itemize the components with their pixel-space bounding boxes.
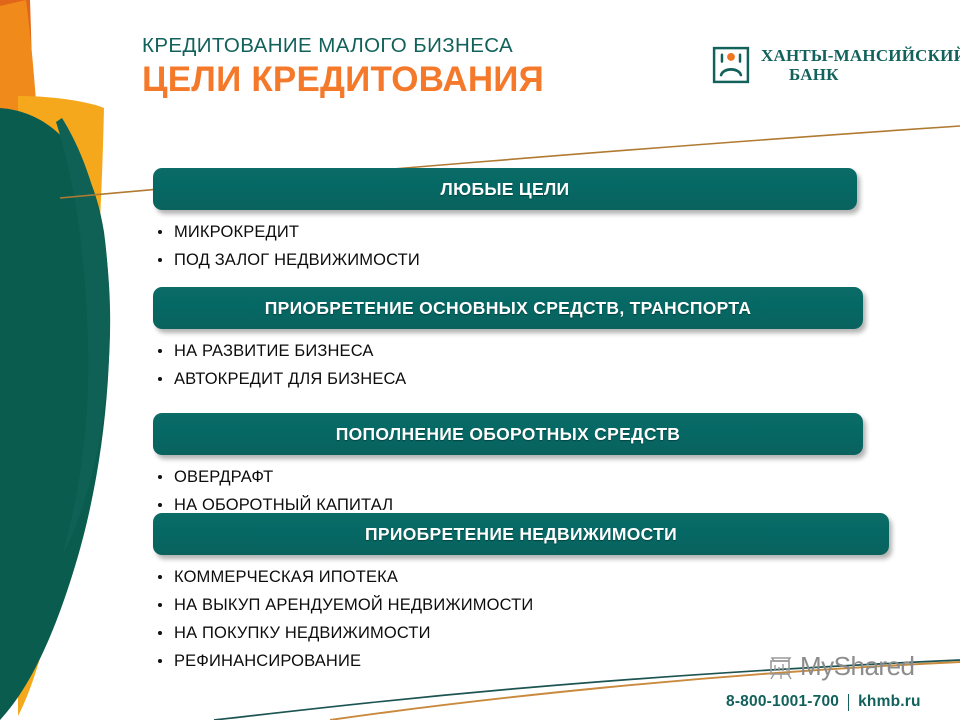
list-item-label: ОВЕРДРАФТ xyxy=(174,468,273,486)
list-item: КОММЕРЧЕСКАЯ ИПОТЕКА xyxy=(153,563,889,591)
bullet-marker-icon xyxy=(158,349,162,353)
bullet-marker-icon xyxy=(158,258,162,262)
list-item: АВТОКРЕДИТ ДЛЯ БИЗНЕСА xyxy=(153,365,863,393)
list-item: НА ПОКУПКУ НЕДВИЖИМОСТИ xyxy=(153,619,889,647)
myshared-watermark-text: MyShared xyxy=(800,651,915,682)
list-item: ПОД ЗАЛОГ НЕДВИЖИМОСТИ xyxy=(153,246,857,274)
bullet-marker-icon xyxy=(158,475,162,479)
slide-header: КРЕДИТОВАНИЕ МАЛОГО БИЗНЕСА ЦЕЛИ КРЕДИТО… xyxy=(142,34,702,100)
footer-contact: 8-800-1001-700 khmb.ru xyxy=(726,693,921,711)
content-block: ПРИОБРЕТЕНИЕ ОСНОВНЫХ СРЕДСТВ, ТРАНСПОРТ… xyxy=(153,287,863,393)
list-item: ОВЕРДРАФТ xyxy=(153,463,863,491)
list-item-label: ПОД ЗАЛОГ НЕДВИЖИМОСТИ xyxy=(174,251,420,269)
list-item-label: РЕФИНАНСИРОВАНИЕ xyxy=(174,652,361,670)
list-item-label: НА РАЗВИТИЕ БИЗНЕСА xyxy=(174,342,374,360)
content-block: ПОПОЛНЕНИЕ ОБОРОТНЫХ СРЕДСТВОВЕРДРАФТНА … xyxy=(153,413,863,519)
bullet-marker-icon xyxy=(158,659,162,663)
footer-divider xyxy=(848,694,849,711)
block-heading-label: ПОПОЛНЕНИЕ ОБОРОТНЫХ СРЕДСТВ xyxy=(336,424,681,445)
block-heading-pill[interactable]: ПОПОЛНЕНИЕ ОБОРОТНЫХ СРЕДСТВ xyxy=(153,413,863,455)
list-item-label: МИКРОКРЕДИТ xyxy=(174,223,299,241)
deco-teal-leaf xyxy=(0,108,110,720)
list-item-label: КОММЕРЧЕСКАЯ ИПОТЕКА xyxy=(174,568,398,586)
list-item-label: НА ВЫКУП АРЕНДУЕМОЙ НЕДВИЖИМОСТИ xyxy=(174,596,533,614)
slide-kicker: КРЕДИТОВАНИЕ МАЛОГО БИЗНЕСА xyxy=(142,34,702,58)
bank-name-line2: БАНК xyxy=(761,65,960,84)
deco-orange-dark-band xyxy=(0,0,34,720)
list-item: НА ВЫКУП АРЕНДУЕМОЙ НЕДВИЖИМОСТИ xyxy=(153,591,889,619)
list-item-label: НА ОБОРОТНЫЙ КАПИТАЛ xyxy=(174,496,393,514)
block-bullet-list: НА РАЗВИТИЕ БИЗНЕСААВТОКРЕДИТ ДЛЯ БИЗНЕС… xyxy=(153,337,863,393)
bank-logo-text: ХАНТЫ-МАНСИЙСКИЙ БАНК xyxy=(761,46,960,84)
list-item-label: НА ПОКУПКУ НЕДВИЖИМОСТИ xyxy=(174,624,431,642)
khmb-emblem-icon xyxy=(712,46,750,84)
bank-logo: ХАНТЫ-МАНСИЙСКИЙ БАНК xyxy=(712,46,960,84)
list-item-label: АВТОКРЕДИТ ДЛЯ БИЗНЕСА xyxy=(174,370,406,388)
block-heading-pill[interactable]: ЛЮБЫЕ ЦЕЛИ xyxy=(153,168,857,210)
content-block: ЛЮБЫЕ ЦЕЛИМИКРОКРЕДИТПОД ЗАЛОГ НЕДВИЖИМО… xyxy=(153,168,857,274)
block-heading-label: ЛЮБЫЕ ЦЕЛИ xyxy=(441,179,570,200)
bullet-marker-icon xyxy=(158,603,162,607)
bank-name-line1: ХАНТЫ-МАНСИЙСКИЙ xyxy=(761,46,960,65)
deco-orange-band xyxy=(0,0,43,720)
footer-website[interactable]: khmb.ru xyxy=(858,693,921,711)
deco-teal-arc xyxy=(56,118,110,556)
bullet-marker-icon xyxy=(158,230,162,234)
block-heading-pill[interactable]: ПРИОБРЕТЕНИЕ НЕДВИЖИМОСТИ xyxy=(153,513,889,555)
bullet-marker-icon xyxy=(158,631,162,635)
block-heading-label: ПРИОБРЕТЕНИЕ НЕДВИЖИМОСТИ xyxy=(365,524,677,545)
block-heading-pill[interactable]: ПРИОБРЕТЕНИЕ ОСНОВНЫХ СРЕДСТВ, ТРАНСПОРТ… xyxy=(153,287,863,329)
deco-amber-band xyxy=(18,96,104,716)
bullet-marker-icon xyxy=(158,575,162,579)
list-item: НА РАЗВИТИЕ БИЗНЕСА xyxy=(153,337,863,365)
slide-title: ЦЕЛИ КРЕДИТОВАНИЯ xyxy=(142,60,702,100)
myshared-logo-icon xyxy=(766,652,796,682)
list-item: МИКРОКРЕДИТ xyxy=(153,218,857,246)
myshared-watermark: MyShared xyxy=(766,651,915,682)
footer-phone[interactable]: 8-800-1001-700 xyxy=(726,693,839,711)
block-bullet-list: МИКРОКРЕДИТПОД ЗАЛОГ НЕДВИЖИМОСТИ xyxy=(153,218,857,274)
slide-canvas: КРЕДИТОВАНИЕ МАЛОГО БИЗНЕСА ЦЕЛИ КРЕДИТО… xyxy=(0,0,960,720)
bullet-marker-icon xyxy=(158,503,162,507)
block-heading-label: ПРИОБРЕТЕНИЕ ОСНОВНЫХ СРЕДСТВ, ТРАНСПОРТ… xyxy=(265,298,752,319)
bullet-marker-icon xyxy=(158,377,162,381)
block-bullet-list: ОВЕРДРАФТНА ОБОРОТНЫЙ КАПИТАЛ xyxy=(153,463,863,519)
